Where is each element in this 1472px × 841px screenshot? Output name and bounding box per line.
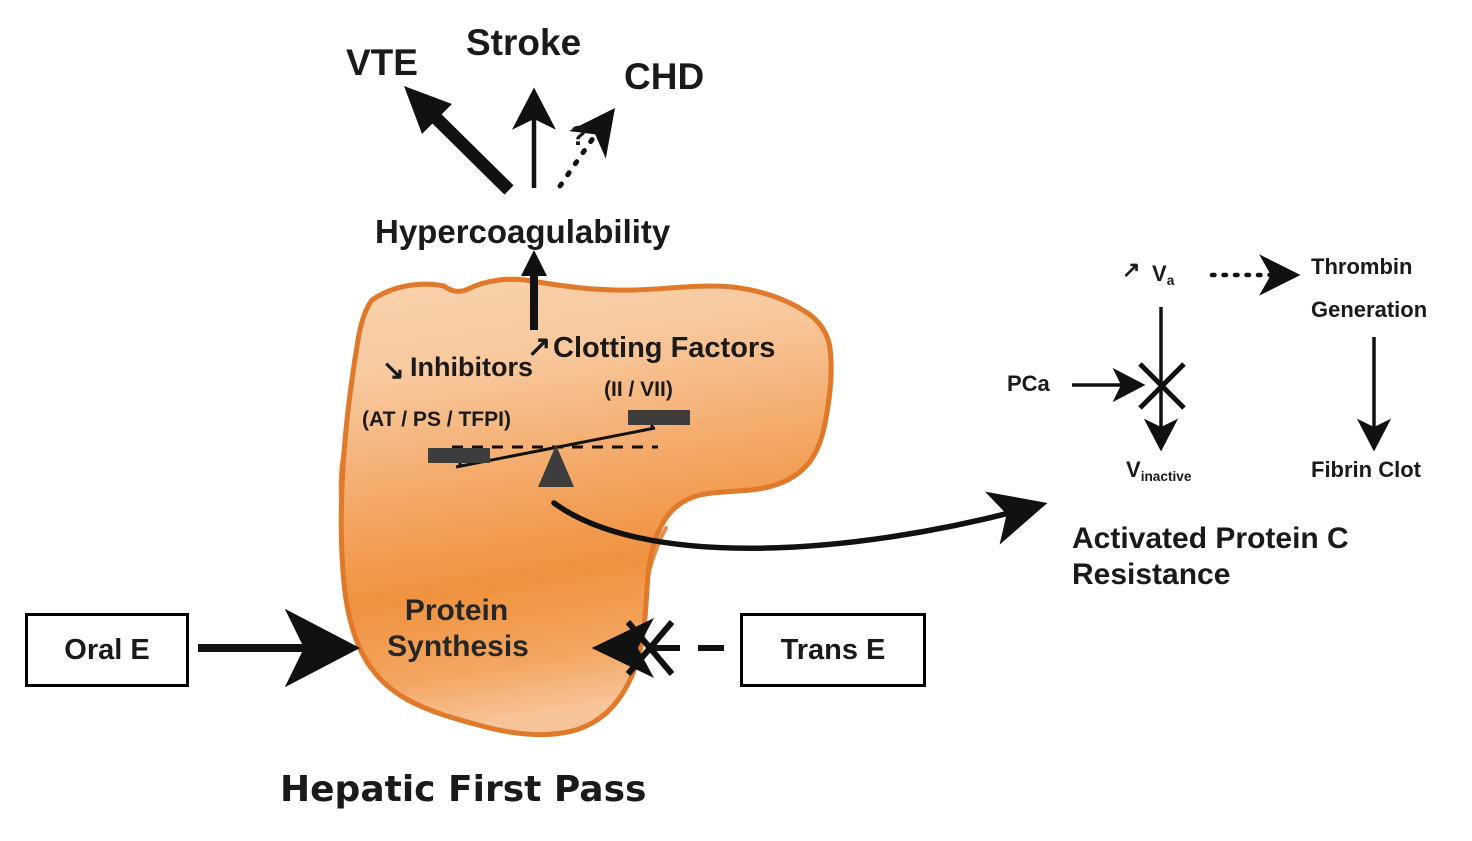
v-inactive-label: Vinactive <box>1126 458 1191 483</box>
inhibitors-label: Inhibitors <box>410 352 533 382</box>
vte-arrow <box>404 86 509 190</box>
protein-synthesis-line2: Synthesis <box>363 630 553 664</box>
outcome-label-chd: CHD <box>624 56 704 97</box>
diagram-canvas: VTE Stroke CHD ? Hypercoagulability ↗ Cl… <box>0 0 1472 841</box>
inhibitors-sublabel: (AT / PS / TFPI) <box>362 408 511 432</box>
va-up-arrow-icon: ↗ <box>1122 258 1140 283</box>
question-mark-label: ? <box>570 120 587 151</box>
thrombin-generation-line2: Generation <box>1311 298 1427 323</box>
diagram-caption: Hepatic First Pass <box>280 770 646 810</box>
clotting-factors-label: Clotting Factors <box>553 332 775 364</box>
apc-resistance-title-line2: Resistance <box>1072 557 1230 592</box>
hypercoagulability-label: Hypercoagulability <box>375 214 670 251</box>
pan-clotting-factors <box>628 410 690 425</box>
v-inactive-letter: V <box>1126 457 1141 482</box>
va-letter: V <box>1152 261 1167 286</box>
va-subscript: a <box>1167 273 1175 288</box>
outcome-label-stroke: Stroke <box>466 22 581 63</box>
apc-resistance-title-line1: Activated Protein C <box>1072 521 1349 556</box>
v-inactive-subscript: inactive <box>1141 469 1192 484</box>
clotting-factors-sublabel: (II / VII) <box>604 378 673 402</box>
pca-label: PCa <box>1007 372 1050 397</box>
inhibitors-down-arrow-icon: ↘ <box>382 355 405 385</box>
pan-inhibitors <box>428 448 490 463</box>
protein-synthesis-line1: Protein <box>369 594 544 628</box>
diagram-artwork <box>0 0 1472 841</box>
oral-estrogen-box[interactable]: Oral E <box>25 613 189 687</box>
transdermal-estrogen-box[interactable]: Trans E <box>740 613 926 687</box>
oral-estrogen-label: Oral E <box>64 634 149 667</box>
thrombin-generation-line1: Thrombin <box>1311 255 1412 280</box>
outcome-label-vte: VTE <box>346 42 418 83</box>
transdermal-estrogen-label: Trans E <box>781 634 886 667</box>
fibrin-clot-label: Fibrin Clot <box>1311 458 1421 483</box>
va-label: Va <box>1152 262 1174 287</box>
